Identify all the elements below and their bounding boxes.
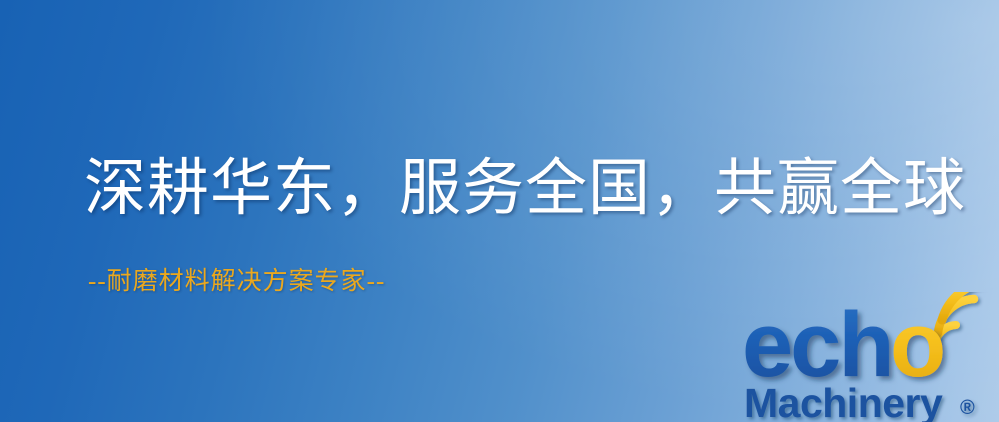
machinery-text: Machinery — [744, 380, 943, 422]
machinery-wordmark: Machinery ® — [744, 380, 975, 422]
registered-trademark-symbol: ® — [960, 397, 975, 419]
page-title: 深耕华东，服务全国，共赢全球 — [84, 152, 966, 226]
company-logo[interactable]: ech o Machinery ® — [742, 292, 998, 422]
page-subtitle: --耐磨材料解决方案专家-- — [88, 266, 385, 298]
echo-machinery-logo-graphic: ech o Machinery ® — [742, 292, 998, 422]
hero-banner: 深耕华东，服务全国，共赢全球 --耐磨材料解决方案专家-- — [0, 0, 999, 422]
